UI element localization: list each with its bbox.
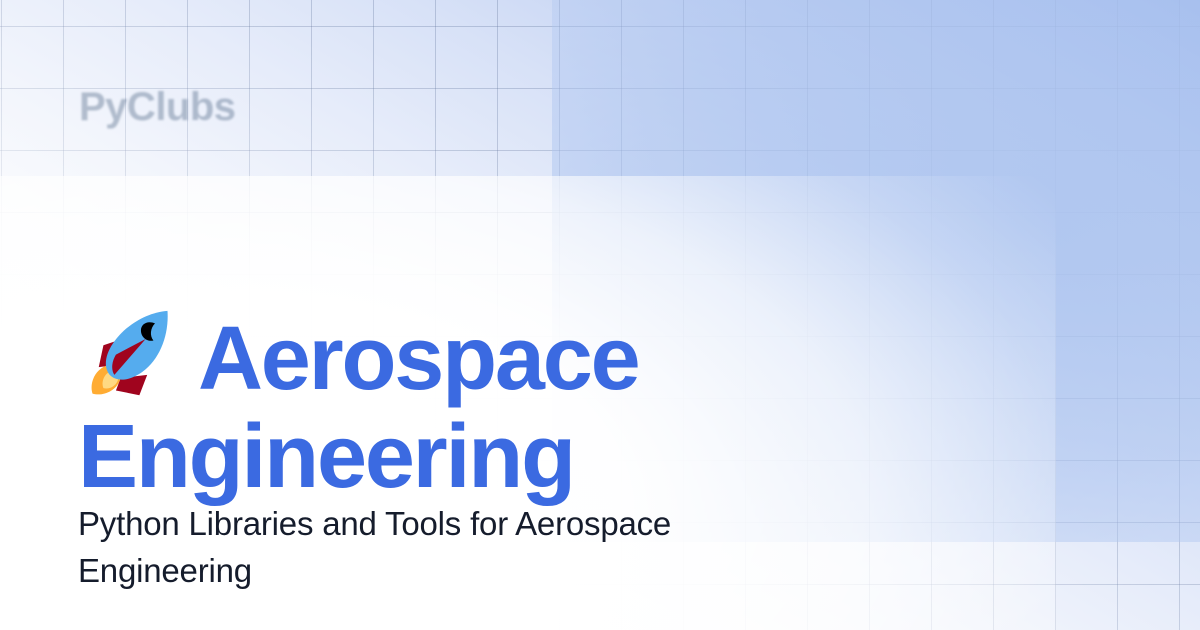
brand-logo[interactable]: PyClubs <box>78 83 235 128</box>
rocket-icon <box>78 303 182 403</box>
og-card: PyClubs Aerospace Engineering <box>0 0 1200 630</box>
card-content: PyClubs Aerospace Engineering <box>0 0 1200 630</box>
page-title: Aerospace Engineering <box>78 303 958 506</box>
page-subtitle: Python Libraries and Tools for Aerospace… <box>78 500 838 594</box>
